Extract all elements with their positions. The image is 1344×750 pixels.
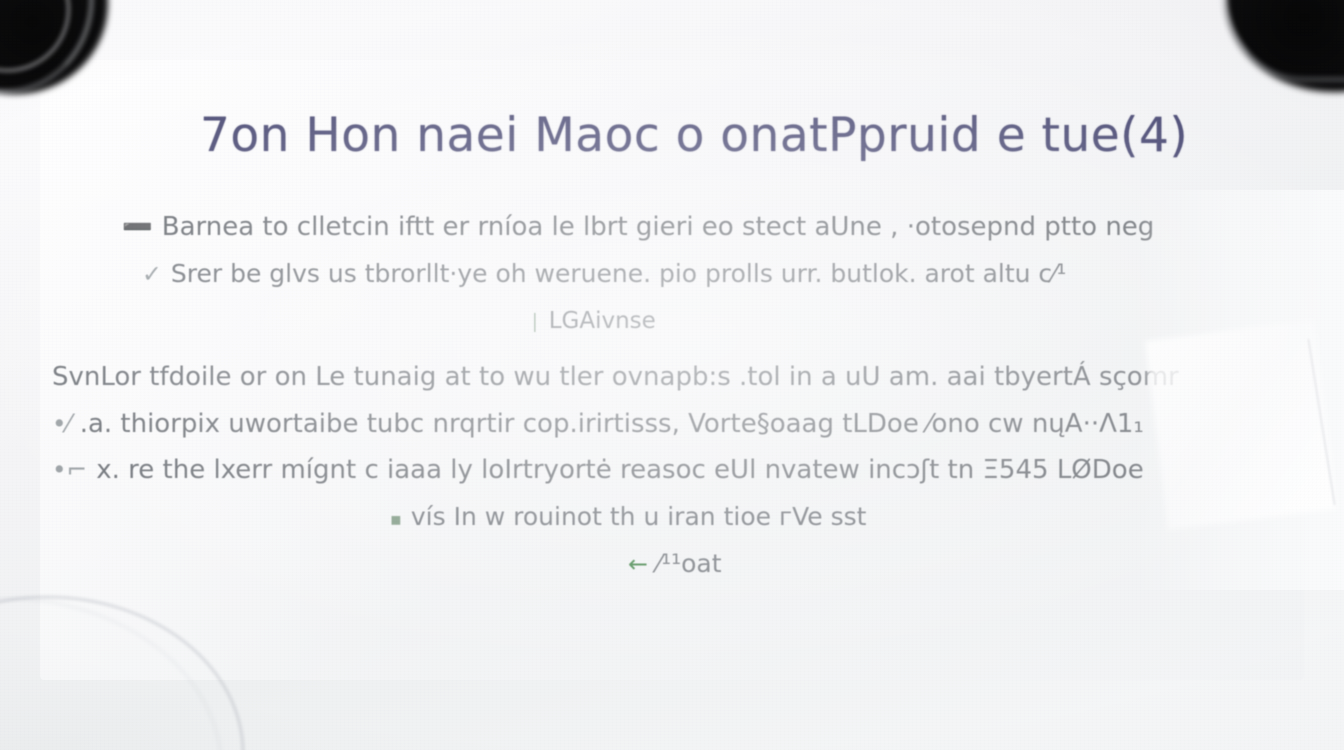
paragraph-line: SvnLor tfdoile or on Le tunaig at to wu …	[52, 362, 1179, 392]
paragraph-label: SvnLor tfdoile or on Le tunaig at to wu …	[52, 362, 1179, 392]
list-item-label: vís In w rouinot th u iran tioe гVe sst	[411, 502, 867, 531]
list-item: ←⁄¹¹oat	[628, 549, 722, 578]
tick-bullet-icon: ✓	[142, 260, 162, 288]
dash-bullet-icon: ➖	[122, 212, 153, 242]
list-item-label: x. re the lxerr mígnt c iaaa ly loIrtryo…	[96, 455, 1143, 485]
square-bullet-icon: ▪	[390, 510, 402, 530]
list-item: ▪vís In w rouinot th u iran tioe гVe sst	[390, 502, 866, 531]
arrow-bullet-icon: ←	[628, 550, 648, 578]
slide-photo-canvas: 7on Hon naei Maoc o onatPpruid e tue(4) …	[0, 0, 1344, 750]
list-item-label: LGAivnse	[549, 308, 656, 334]
list-item-label: Barnea to clletcin iftt er rníoa le lbrt…	[162, 212, 1155, 242]
list-item-label: Srer be glvs us tbrorllt·ye oh weruene. …	[171, 259, 1066, 288]
list-item: ✓Srer be glvs us tbrorllt·ye oh weruene.…	[142, 259, 1066, 288]
dark-blob-top-right-icon	[1226, 0, 1344, 92]
list-item: ➖Barnea to clletcin iftt er rníoa le lbr…	[122, 212, 1154, 242]
list-item-label: .a. thiorpix uwortaibe tubc nrqrtir cop.…	[80, 409, 1144, 439]
list-item: •⁄.a. thiorpix uwortaibe tubc nrqrtir co…	[52, 409, 1144, 439]
bar-bullet-icon: │	[530, 313, 540, 332]
dark-blob-top-right-edge-icon	[1221, 0, 1344, 81]
page-title: 7on Hon naei Maoc o onatPpruid e tue(4)	[200, 108, 1200, 163]
dark-blob-top-left-icon	[0, 0, 108, 94]
faint-arc-bottom-left-outer-icon	[0, 598, 222, 750]
dot-bullet-icon: •⁄	[52, 409, 71, 438]
glare-smudge-right	[1145, 320, 1337, 529]
dark-blob-top-left-ring-icon	[0, 0, 70, 72]
faint-arc-bottom-left-icon	[0, 596, 244, 750]
list-item: •⌐x. re the lxerr mígnt c iaaa ly loIrtr…	[52, 455, 1144, 485]
glare-smudge-right-edge	[1308, 339, 1335, 505]
tick-bullet-icon: •⌐	[52, 455, 87, 484]
list-item-label: ⁄¹¹oat	[657, 549, 722, 578]
list-item: │LGAivnse	[530, 308, 656, 334]
dark-blob-top-left-edge-icon	[0, 0, 93, 93]
